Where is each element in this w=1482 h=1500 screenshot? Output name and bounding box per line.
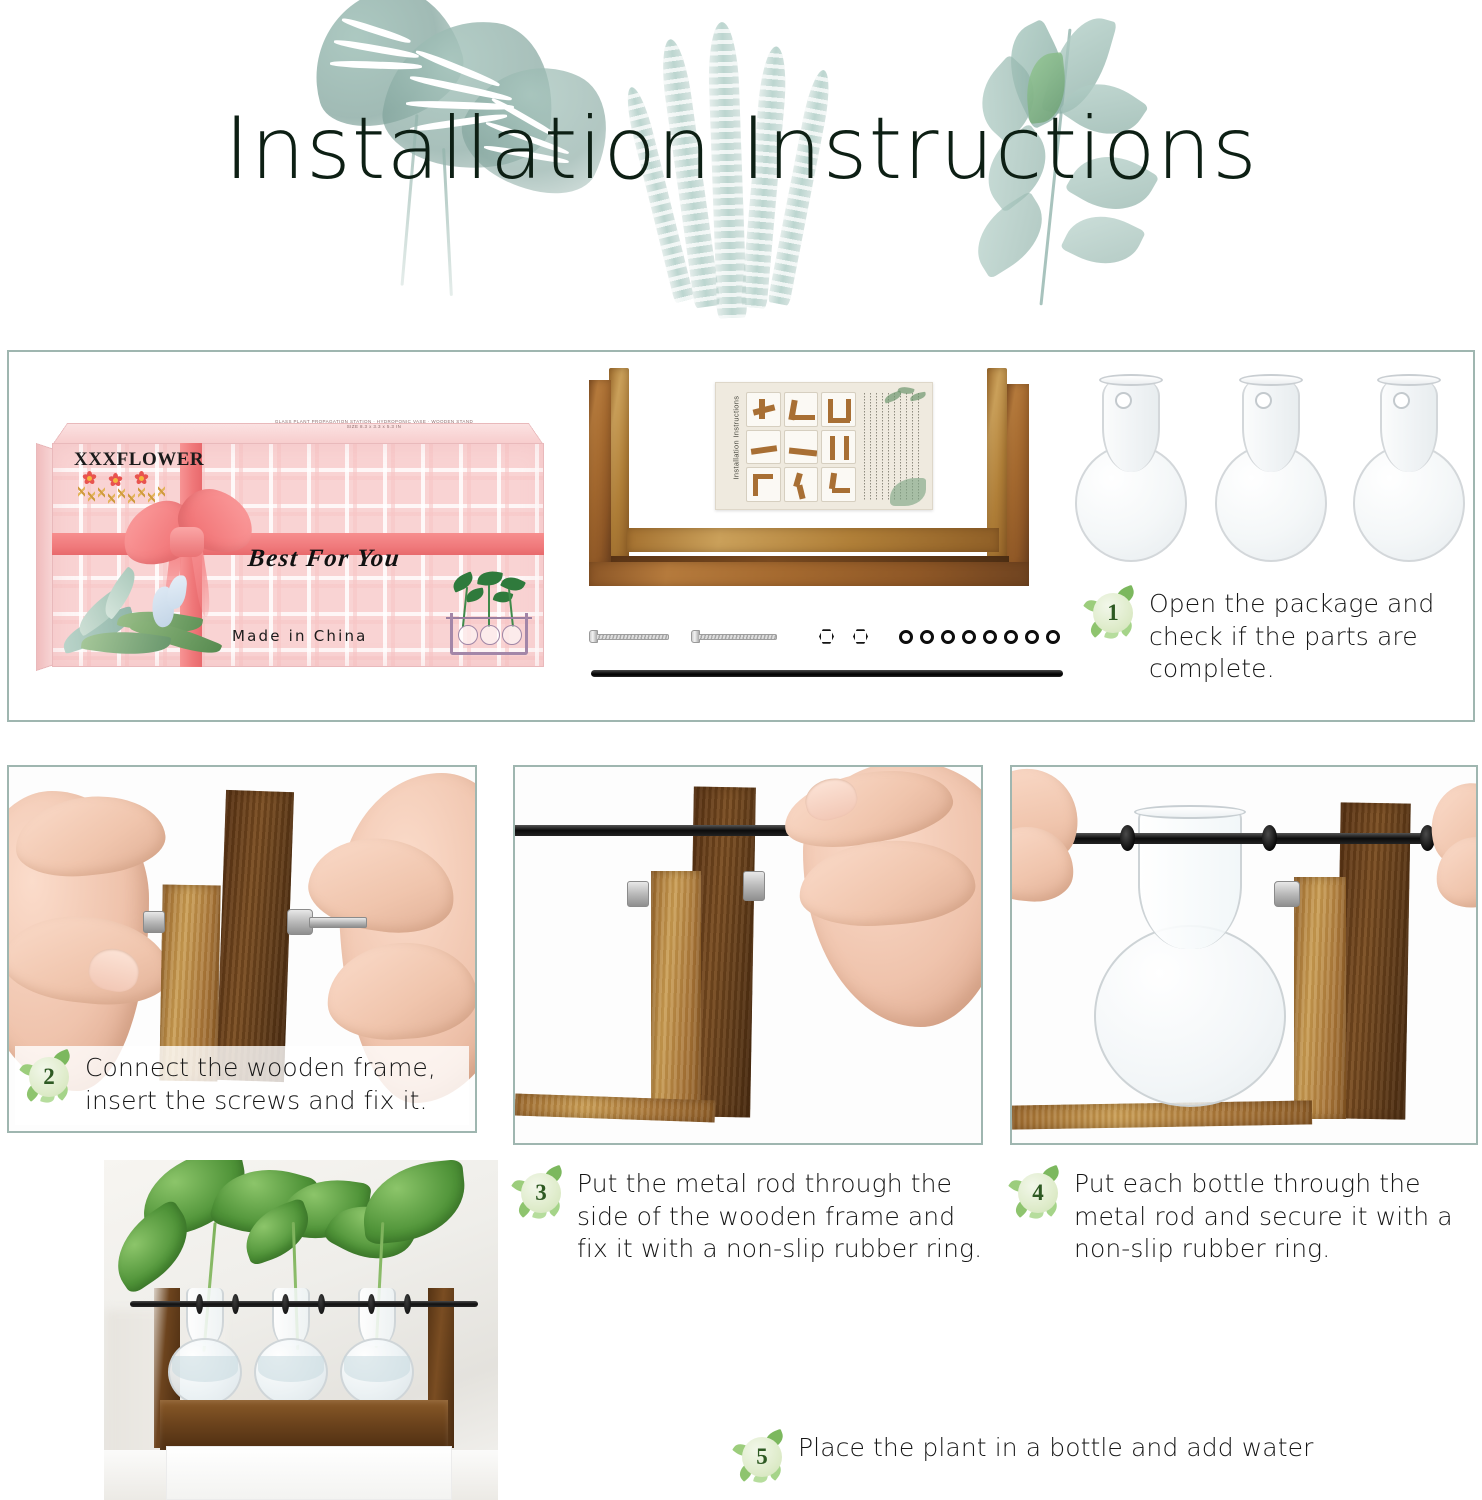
step-badge-1: 1 [1085, 588, 1139, 640]
package-origin: Made in China [232, 627, 368, 645]
wood-side-piece [1294, 877, 1346, 1119]
hardware-parts-row [587, 620, 1067, 660]
step-4-photo [1012, 767, 1476, 1143]
glass-bottle [1353, 372, 1465, 562]
installation-instructions-page: Installation Instructions GLASS PLANT PR… [0, 0, 1482, 1500]
box-top-print: GLASS PLANT PROPAGATION STATION · HYDROP… [254, 419, 494, 431]
botanical-illustration [56, 565, 246, 669]
wood-base [1012, 1100, 1312, 1129]
metal-rod [130, 1301, 478, 1307]
rubber-ring [368, 1294, 375, 1314]
metal-rod-part [591, 670, 1063, 677]
final-assembled-photo [104, 1160, 498, 1500]
step-3-photo [515, 767, 981, 1143]
step-4-panel [1010, 765, 1478, 1145]
water [172, 1356, 238, 1382]
rubber-ring-part [1004, 630, 1018, 644]
rubber-ring-part [920, 630, 934, 644]
glass-bottles-group [1075, 372, 1465, 572]
step-number-1: 1 [1093, 593, 1133, 633]
hex-nut-part [853, 629, 868, 644]
glass-bottle [1075, 372, 1187, 562]
rubber-ring-part [1025, 630, 1039, 644]
step-5-caption: 5 Place the plant in a bottle and add wa… [734, 1432, 1354, 1484]
rubber-ring [1120, 825, 1135, 851]
metal-rod [1012, 833, 1476, 844]
step-3-caption-block: 3 Put the metal rod through the side of … [513, 1168, 991, 1266]
step-badge-3: 3 [513, 1168, 567, 1220]
water [344, 1356, 410, 1382]
frame-base-rail [589, 562, 1029, 586]
step-number-5: 5 [742, 1437, 782, 1477]
step-1-text: Open the package and check if the parts … [1149, 588, 1463, 686]
parts-overview-panel: GLASS PLANT PROPAGATION STATION · HYDROP… [7, 350, 1475, 722]
bolt-head-left [143, 911, 165, 933]
glass-bottle [1094, 925, 1286, 1107]
instruction-card-grid [746, 392, 856, 502]
step-badge-4: 4 [1010, 1168, 1064, 1220]
instruction-card-title: Installation Instructions [732, 384, 741, 480]
bolt [1274, 881, 1300, 907]
bolt-left [627, 881, 649, 907]
step-badge-5: 5 [734, 1432, 788, 1484]
flower-embroidery-logo [78, 471, 170, 509]
stand-base [160, 1400, 448, 1450]
glass-bottle-neck [1138, 809, 1242, 949]
rubber-ring [318, 1294, 325, 1314]
frame-post-left-inner [609, 368, 629, 560]
step-1-caption: 1 Open the package and check if the part… [1085, 588, 1463, 686]
step-3-text: Put the metal rod through the side of th… [577, 1168, 991, 1266]
screw-shaft [309, 917, 367, 928]
step-5-text: Place the plant in a bottle and add wate… [798, 1432, 1313, 1465]
rubber-ring [404, 1294, 411, 1314]
package-tagline: Best For You [247, 545, 402, 573]
instruction-card: Installation Instructions [715, 382, 933, 510]
header-banner: Installation Instructions [0, 0, 1482, 340]
step-number-4: 4 [1018, 1173, 1058, 1213]
frame-rail-upper [627, 528, 999, 552]
rubber-ring [232, 1294, 239, 1314]
rubber-ring-part [1046, 630, 1060, 644]
rubber-ring-part [962, 630, 976, 644]
rubber-ring [196, 1294, 203, 1314]
instruction-card-sprig-icon [882, 385, 928, 411]
rubber-ring-part [899, 630, 913, 644]
bolt-right [743, 871, 765, 901]
package-product-illustration [442, 573, 538, 659]
white-base-block [166, 1446, 452, 1500]
step-badge-2: 2 [21, 1052, 75, 1104]
rubber-ring-part [941, 630, 955, 644]
rubber-ring [1262, 825, 1277, 851]
water [258, 1356, 324, 1382]
glass-bottle-lip [1134, 805, 1246, 819]
step-2-panel: 2 Connect the wooden frame, insert the s… [7, 765, 477, 1133]
wood-post [1335, 802, 1411, 1119]
wood-piece-vertical [216, 790, 294, 1082]
rubber-ring-part [983, 630, 997, 644]
step-2-caption: 2 Connect the wooden frame, insert the s… [15, 1046, 469, 1125]
wood-side-piece [651, 871, 701, 1117]
product-package-box: GLASS PLANT PROPAGATION STATION · HYDROP… [34, 405, 558, 675]
step-number-2: 2 [29, 1057, 69, 1097]
step-number-3: 3 [521, 1173, 561, 1213]
step-4-text: Put each bottle through the metal rod an… [1074, 1168, 1480, 1266]
wooden-frame-parts: Installation Instructions [587, 360, 1067, 610]
frame-post-right-outer [1007, 384, 1029, 566]
glass-bottle [1215, 372, 1327, 562]
step-3-panel [513, 765, 983, 1145]
package-brand-name: XXXFLOWER [74, 449, 204, 471]
step-4-caption-block: 4 Put each bottle through the metal rod … [1010, 1168, 1480, 1266]
hex-nut-part [819, 629, 834, 644]
frame-post-left-outer [589, 380, 611, 566]
rubber-ring [282, 1294, 289, 1314]
page-title: Installation Instructions [0, 104, 1482, 194]
step-2-text: Connect the wooden frame, insert the scr… [85, 1052, 461, 1117]
